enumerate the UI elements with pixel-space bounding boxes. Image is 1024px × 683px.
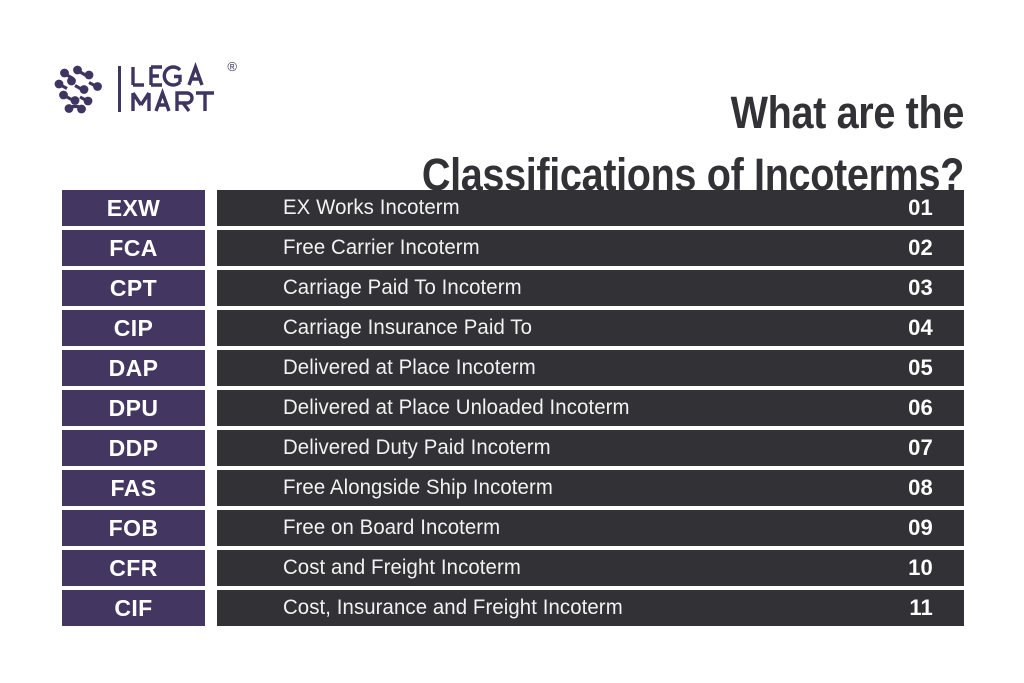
incoterm-description-text: Delivered at Place Incoterm xyxy=(283,356,536,380)
incoterm-index-number: 06 xyxy=(908,395,933,421)
incoterm-description-text: Delivered Duty Paid Incoterm xyxy=(283,436,551,460)
incoterm-row: CIFCost, Insurance and Freight Incoterm1… xyxy=(0,590,1024,626)
incoterm-code-badge: CIF xyxy=(62,590,205,626)
infographic-header: ® What are the Classifications of Incote… xyxy=(0,0,1024,186)
incoterm-row: DPUDelivered at Place Unloaded Incoterm0… xyxy=(0,390,1024,426)
incoterm-description-bar: Cost, Insurance and Freight Incoterm11 xyxy=(217,590,964,626)
incoterm-index-number: 10 xyxy=(908,555,933,581)
incoterm-description-bar: Cost and Freight Incoterm10 xyxy=(217,550,964,586)
incoterm-code-badge: FAS xyxy=(62,470,205,506)
incoterm-code-badge: DPU xyxy=(62,390,205,426)
incoterm-row: DAPDelivered at Place Incoterm05 xyxy=(0,350,1024,386)
incoterm-code-badge: FOB xyxy=(62,510,205,546)
incoterm-row: FCAFree Carrier Incoterm02 xyxy=(0,230,1024,266)
incoterm-row: CIPCarriage Insurance Paid To04 xyxy=(0,310,1024,346)
legamart-dots-logo-icon xyxy=(52,61,108,117)
incoterm-index-number: 07 xyxy=(908,435,933,461)
incoterm-row: DDPDelivered Duty Paid Incoterm07 xyxy=(0,430,1024,466)
incoterm-index-number: 03 xyxy=(908,275,933,301)
incoterm-code-badge: DAP xyxy=(62,350,205,386)
incoterm-code-badge: CFR xyxy=(62,550,205,586)
legamart-wordmark: ® xyxy=(130,61,226,117)
incoterm-code-badge: CIP xyxy=(62,310,205,346)
incoterm-row: CFRCost and Freight Incoterm10 xyxy=(0,550,1024,586)
brand-logo[interactable]: ® xyxy=(52,58,226,120)
incoterm-description-text: Free on Board Incoterm xyxy=(283,516,500,540)
incoterm-code-badge: DDP xyxy=(62,430,205,466)
incoterm-index-number: 05 xyxy=(908,355,933,381)
incoterm-row: FOBFree on Board Incoterm09 xyxy=(0,510,1024,546)
incoterms-list: EXWEX Works Incoterm01FCAFree Carrier In… xyxy=(0,190,1024,630)
incoterm-description-text: Carriage Insurance Paid To xyxy=(283,316,532,340)
incoterm-description-bar: Delivered at Place Incoterm05 xyxy=(217,350,964,386)
incoterm-row: EXWEX Works Incoterm01 xyxy=(0,190,1024,226)
incoterm-row: FASFree Alongside Ship Incoterm08 xyxy=(0,470,1024,506)
incoterm-description-bar: Delivered at Place Unloaded Incoterm06 xyxy=(217,390,964,426)
incoterm-description-bar: Free Carrier Incoterm02 xyxy=(217,230,964,266)
incoterm-index-number: 04 xyxy=(908,315,933,341)
incoterm-description-bar: Free Alongside Ship Incoterm08 xyxy=(217,470,964,506)
incoterm-description-text: Delivered at Place Unloaded Incoterm xyxy=(283,396,630,420)
incoterm-index-number: 01 xyxy=(908,195,933,221)
incoterm-description-text: Cost and Freight Incoterm xyxy=(283,556,521,580)
incoterm-description-bar: Carriage Paid To Incoterm03 xyxy=(217,270,964,306)
incoterm-description-bar: Free on Board Incoterm09 xyxy=(217,510,964,546)
incoterm-index-number: 02 xyxy=(908,235,933,261)
incoterm-code-badge: FCA xyxy=(62,230,205,266)
incoterm-index-number: 11 xyxy=(909,595,933,621)
incoterm-description-bar: Delivered Duty Paid Incoterm07 xyxy=(217,430,964,466)
incoterm-description-text: EX Works Incoterm xyxy=(283,196,460,220)
page-title-line-1: What are the xyxy=(330,82,964,144)
logo-divider xyxy=(118,66,121,112)
incoterm-description-text: Free Carrier Incoterm xyxy=(283,236,480,260)
incoterm-index-number: 09 xyxy=(908,515,933,541)
incoterm-description-text: Cost, Insurance and Freight Incoterm xyxy=(283,596,623,620)
page-title: What are the Classifications of Incoterm… xyxy=(330,82,964,206)
incoterm-index-number: 08 xyxy=(908,475,933,501)
incoterm-description-text: Free Alongside Ship Incoterm xyxy=(283,476,553,500)
incoterm-code-badge: CPT xyxy=(62,270,205,306)
incoterm-code-badge: EXW xyxy=(62,190,205,226)
infographic-canvas: ® What are the Classifications of Incote… xyxy=(0,0,1024,683)
incoterm-description-text: Carriage Paid To Incoterm xyxy=(283,276,522,300)
incoterm-description-bar: EX Works Incoterm01 xyxy=(217,190,964,226)
incoterm-description-bar: Carriage Insurance Paid To04 xyxy=(217,310,964,346)
incoterm-row: CPTCarriage Paid To Incoterm03 xyxy=(0,270,1024,306)
registered-trademark-icon: ® xyxy=(227,60,237,73)
